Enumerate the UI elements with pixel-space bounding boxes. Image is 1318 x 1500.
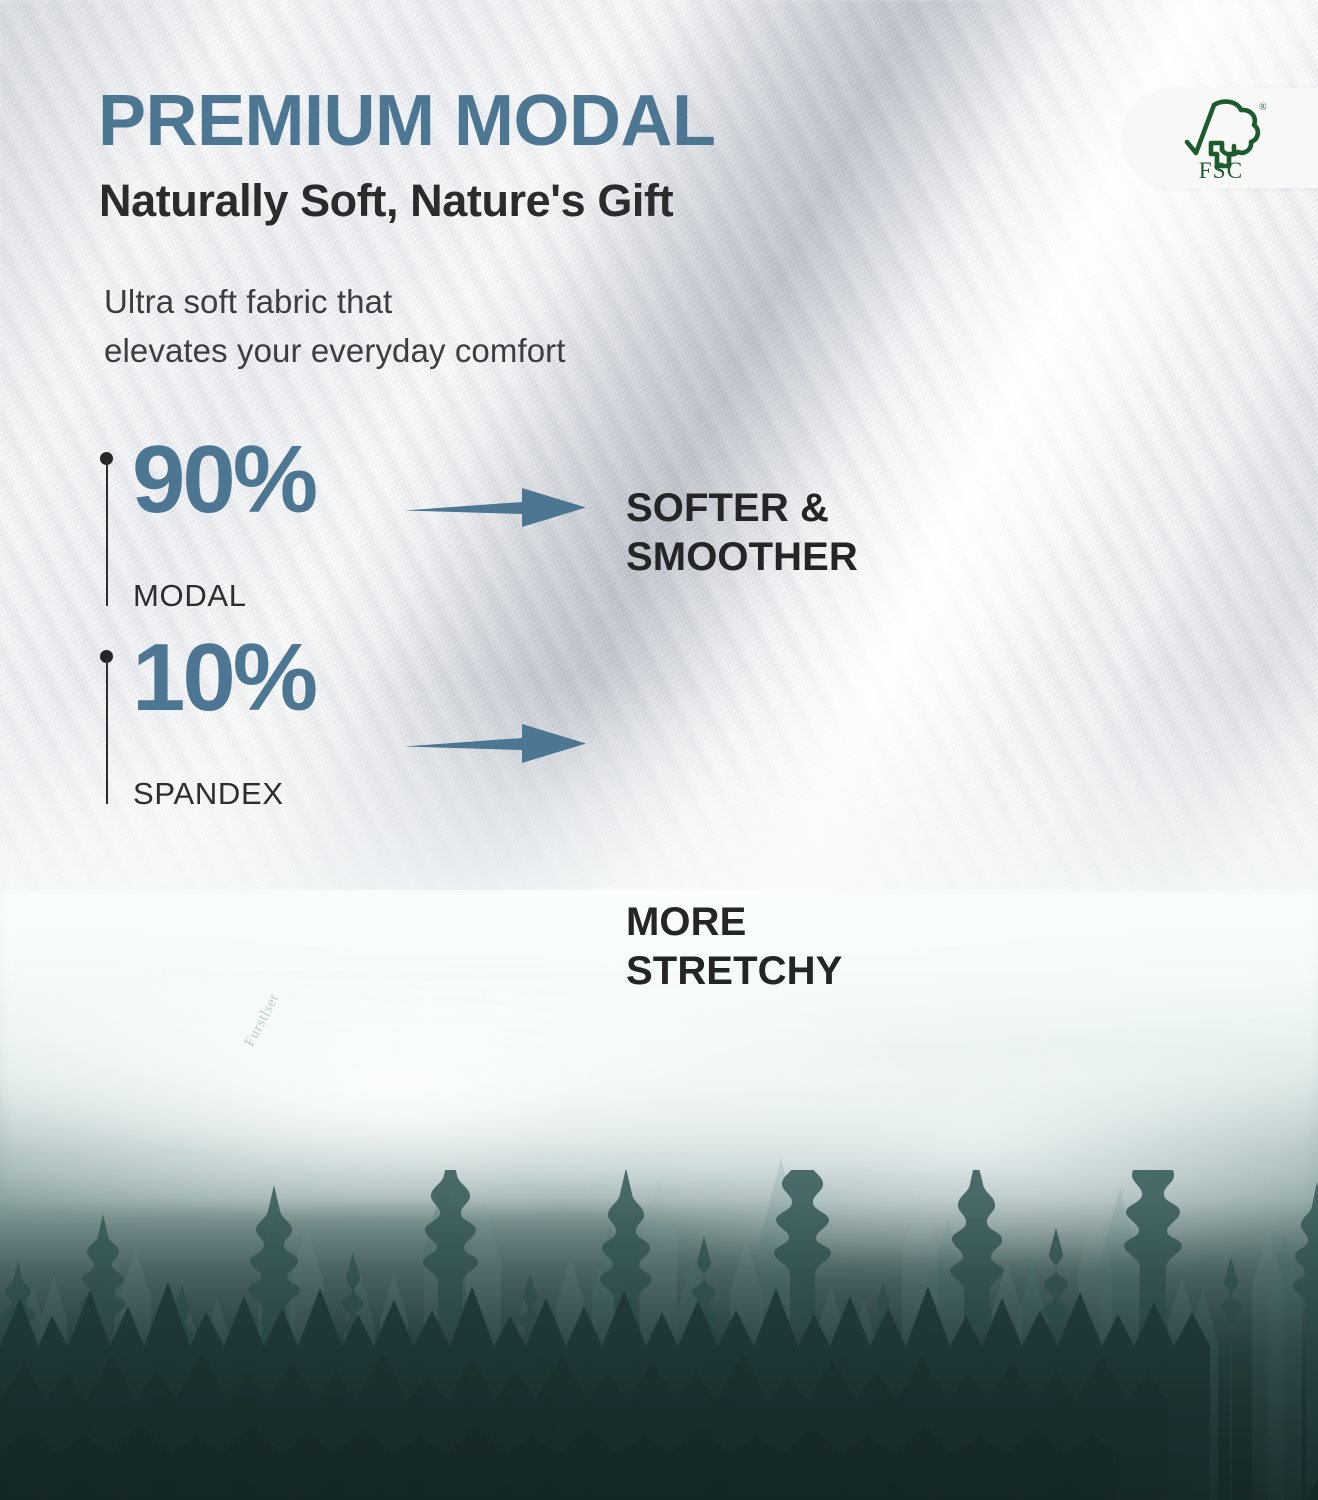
stat-value-spandex: 10% bbox=[132, 630, 315, 726]
page-title: PREMIUM MODAL bbox=[98, 85, 715, 157]
forest-bottom-shadow bbox=[0, 1200, 1318, 1500]
intro-description: Ultra soft fabric that elevates your eve… bbox=[104, 278, 566, 376]
stat-material-modal: MODAL bbox=[133, 580, 247, 611]
fsc-tree-checkmark-icon: ® FSC bbox=[1167, 96, 1275, 180]
arrow-right-icon bbox=[404, 484, 586, 530]
pin-stem-icon bbox=[106, 460, 108, 606]
benefit-text-softer: SOFTER & SMOOTHER bbox=[626, 484, 858, 582]
stat-value-modal: 90% bbox=[132, 432, 315, 528]
registered-mark: ® bbox=[1259, 102, 1267, 113]
svg-text:FSC: FSC bbox=[1198, 158, 1243, 180]
pin-stem-icon bbox=[106, 658, 108, 804]
product-feature-poster: Furstlset ® FSC PREMIUM MODAL Naturally … bbox=[0, 0, 1318, 1500]
page-subtitle: Naturally Soft, Nature's Gift bbox=[99, 178, 673, 223]
benefit-text-stretchy: MORE STRETCHY bbox=[626, 898, 842, 996]
fsc-certification-badge: ® FSC bbox=[1123, 88, 1318, 188]
stat-material-spandex: SPANDEX bbox=[133, 778, 284, 809]
arrow-right-icon bbox=[404, 720, 586, 766]
